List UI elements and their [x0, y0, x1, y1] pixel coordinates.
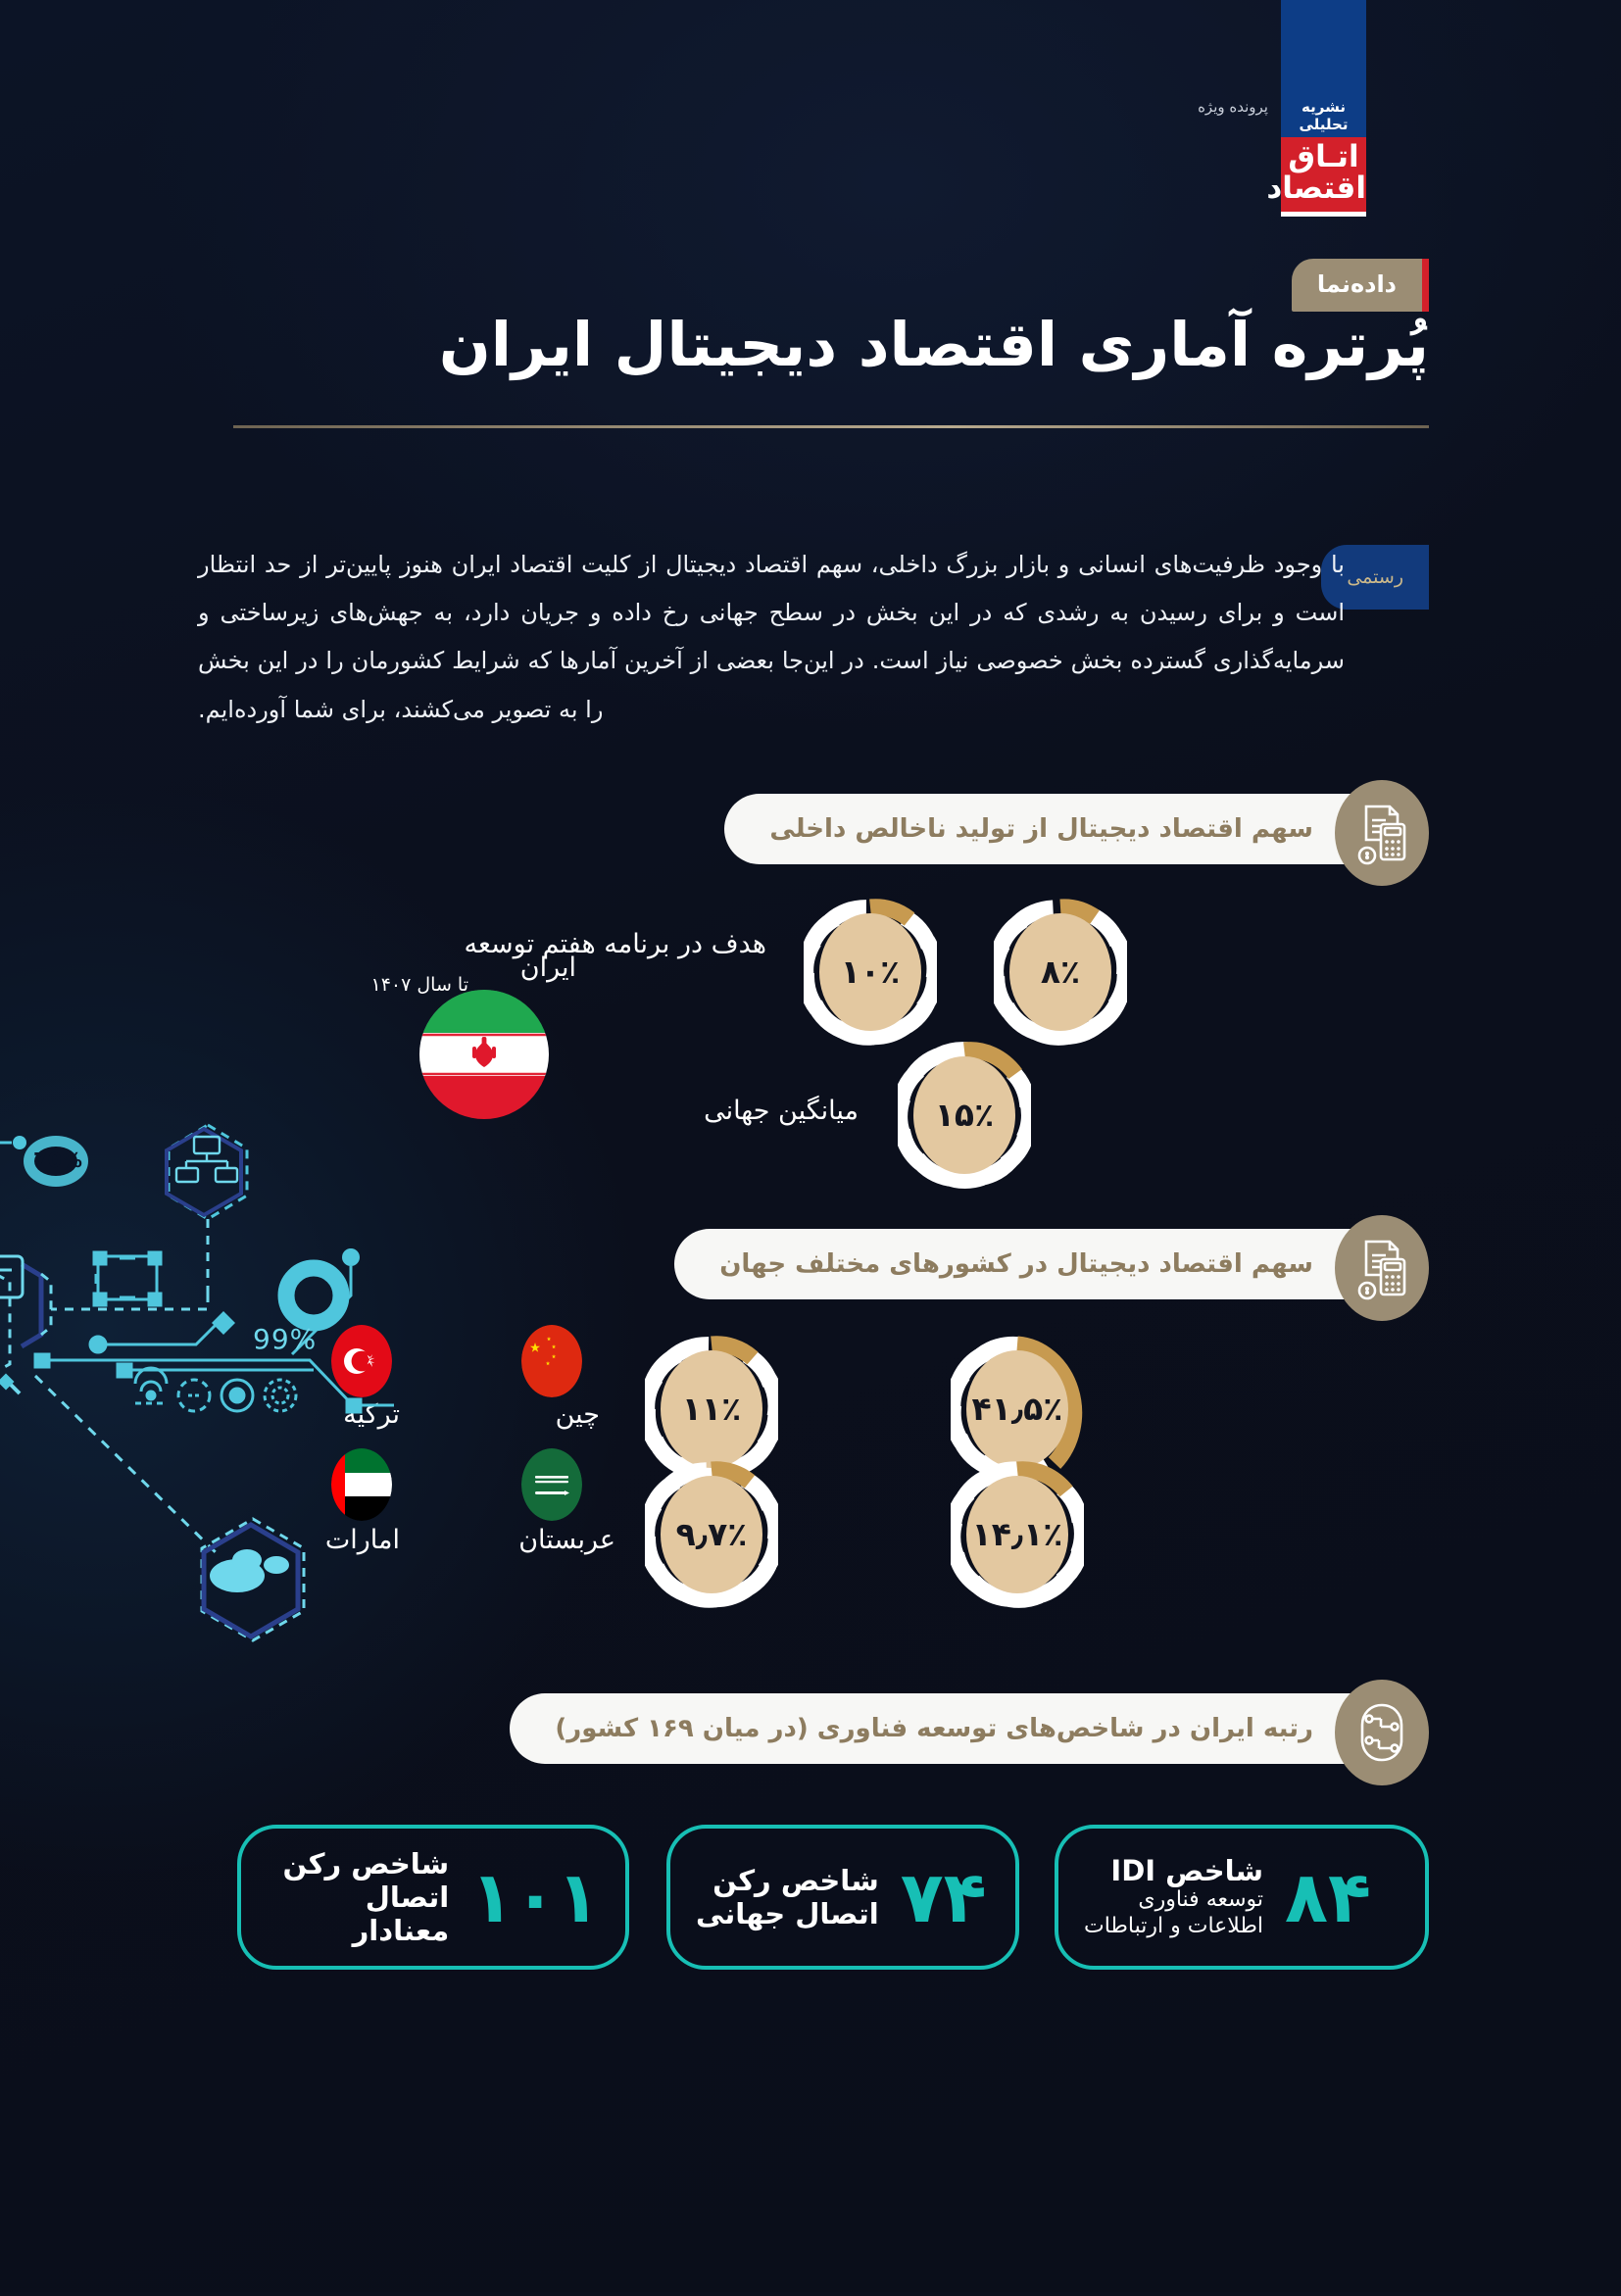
rank-value-idi: ۸۴: [1285, 1862, 1371, 1932]
donut-label-turkey: ترکیه: [343, 1399, 400, 1430]
data-nama-badge: داده‌نما: [1292, 259, 1429, 312]
donut-core: ۱۱٪: [661, 1350, 762, 1468]
donut-seventh-plan-target: ۱۰٪: [804, 898, 937, 1047]
section-header-1: سهم اقتصاد دیجیتال از تولید ناخالص داخلی: [655, 780, 1429, 874]
rank-title-idi: شاخص IDI: [1084, 1854, 1263, 1887]
intro-paragraph: با وجود ظرفیت‌های انسانی و بازار بزرگ دا…: [198, 541, 1345, 734]
donut-core: ۱۴٫۱٪: [966, 1476, 1068, 1593]
section-header-3: رتبه ایران در شاخص‌های توسعه فناوری (در …: [655, 1680, 1429, 1774]
masthead: نشریه تحلیلی اتـاق اقتصاد پرونده ویژه: [0, 0, 1621, 265]
donut-sublabel-target: تا سال ۱۴۰۷: [371, 974, 469, 996]
section-title-3: رتبه ایران در شاخص‌های توسعه فناوری (در …: [555, 1714, 1313, 1743]
rank-title-global-connectivity-line2: اتصال جهانی: [696, 1897, 879, 1930]
brand-tagline: نشریه تحلیلی: [1281, 98, 1366, 137]
donut-label-china: چین: [556, 1399, 600, 1430]
donut-value: ۸٪: [1041, 953, 1080, 991]
donut-core: ۱۰٪: [819, 913, 921, 1031]
donut-core: ۴۱٫۵٪: [966, 1350, 1068, 1468]
brand-line1: اتـاق: [1281, 141, 1366, 172]
donut-label-saudi: عربستان: [518, 1525, 615, 1555]
section-title-2: سهم اقتصاد دیجیتال در کشورهای مختلف جهان: [719, 1249, 1313, 1279]
donut-value: ۱۰٪: [841, 953, 900, 991]
uae-flag: [331, 1448, 392, 1521]
donut-label-global-average: میانگین جهانی: [704, 1096, 859, 1126]
decor-percent-99: 99%: [253, 1323, 317, 1355]
brand-line2: اقتصاد: [1281, 172, 1366, 204]
donut-core: ۹٫۷٪: [661, 1476, 762, 1593]
donut-core: ۱۵٪: [913, 1056, 1015, 1174]
saudi-flag: [521, 1448, 582, 1521]
donut-label-uae: امارات: [325, 1525, 400, 1555]
iran-flag: [419, 990, 549, 1119]
donut-uae: ۹٫۷٪: [645, 1460, 778, 1609]
decor-percent-70: 70%: [33, 1148, 83, 1172]
brand-blue-bar: [1281, 0, 1366, 98]
donut-value: ۱۱٪: [682, 1390, 741, 1428]
section-title-1: سهم اقتصاد دیجیتال از تولید ناخالص داخلی: [769, 814, 1313, 844]
rank-card-idi: ۸۴ شاخص IDI توسعه فناوری اطلاعات و ارتبا…: [1055, 1825, 1429, 1970]
donut-value: ۱۴٫۱٪: [972, 1515, 1063, 1553]
page-title: پُرتره آماری اقتصاد دیجیتال ایران: [292, 310, 1429, 379]
section-title-pill-1: سهم اقتصاد دیجیتال از تولید ناخالص داخلی: [724, 794, 1390, 864]
rank-value-global-connectivity: ۷۴: [901, 1862, 987, 1932]
rank-card-global-connectivity: ۷۴ شاخص رکن اتصال جهانی: [666, 1825, 1019, 1970]
masthead-subtitle: پرونده ویژه: [1198, 98, 1268, 116]
rank-title-global-connectivity-line1: شاخص رکن: [696, 1864, 879, 1897]
donut-global-average: ۱۵٪: [898, 1041, 1031, 1190]
brand-red-block: اتـاق اقتصاد: [1281, 137, 1366, 212]
section-title-pill-2: سهم اقتصاد دیجیتال در کشورهای مختلف جهان: [674, 1229, 1390, 1299]
donut-core: ۸٪: [1009, 913, 1111, 1031]
turkey-flag: [331, 1325, 392, 1397]
donut-value: ۹٫۷٪: [676, 1515, 748, 1553]
brand-logo: نشریه تحلیلی اتـاق اقتصاد: [1281, 0, 1366, 217]
calculator-invoice-icon: [1335, 780, 1429, 886]
rank-subtitle-idi-line1: توسعه فناوری: [1084, 1887, 1263, 1914]
circuit-chip-icon: [1335, 1680, 1429, 1785]
donut-saudi: ۱۴٫۱٪: [951, 1460, 1084, 1609]
rank-value-meaningful-connectivity: ۱۰۱: [470, 1862, 600, 1932]
section-header-2: سهم اقتصاد دیجیتال در کشورهای مختلف جهان: [655, 1215, 1429, 1309]
donut-iran: ۸٪: [994, 898, 1127, 1047]
donut-value: ۴۱٫۵٪: [972, 1390, 1063, 1428]
donut-value: ۱۵٪: [935, 1096, 994, 1134]
china-flag: [521, 1325, 582, 1397]
rank-subtitle-idi-line2: اطلاعات و ارتباطات: [1084, 1914, 1263, 1940]
donut-label-target: هدف در برنامه هفتم توسعه: [465, 929, 766, 959]
rank-card-meaningful-connectivity: ۱۰۱ شاخص رکن اتصال معنادار: [237, 1825, 629, 1970]
calculator-invoice-icon: [1335, 1215, 1429, 1321]
brand-underline: [1281, 212, 1366, 217]
rank-title-meaningful-connectivity-line1: شاخص رکن: [267, 1847, 449, 1881]
section-title-pill-3: رتبه ایران در شاخص‌های توسعه فناوری (در …: [510, 1693, 1390, 1764]
title-divider: [233, 425, 1429, 428]
rank-title-meaningful-connectivity-line2: اتصال معنادار: [267, 1881, 449, 1947]
